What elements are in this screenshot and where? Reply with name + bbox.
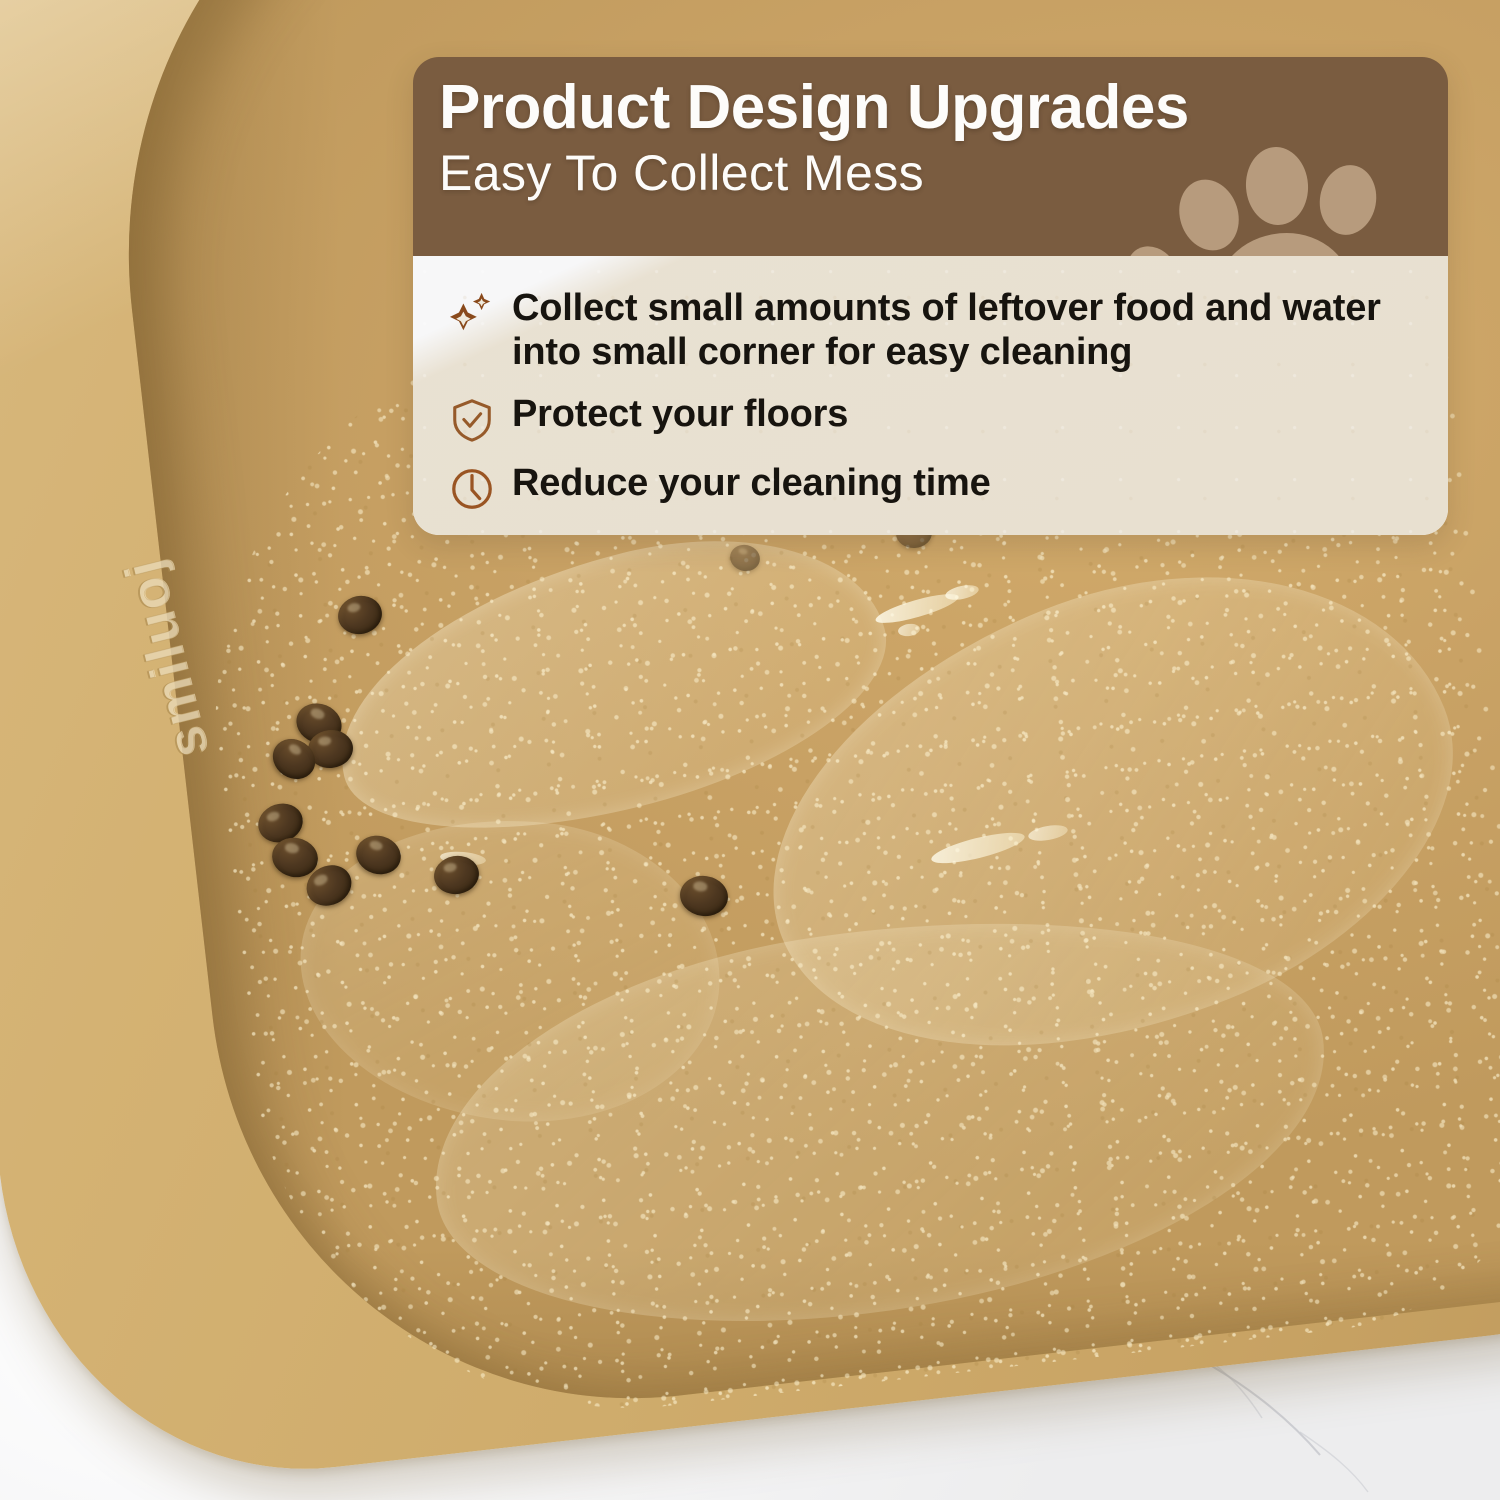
list-item-label: Protect your floors xyxy=(512,392,848,436)
panel-body: Collect small amounts of leftover food a… xyxy=(413,256,1448,535)
list-item-label: Reduce your cleaning time xyxy=(512,461,991,505)
product-marketing-image: smiluoj xyxy=(0,0,1500,1500)
info-panel: Product Design Upgrades Easy To Collect … xyxy=(413,57,1448,535)
panel-header: Product Design Upgrades Easy To Collect … xyxy=(413,57,1448,256)
feature-list: Collect small amounts of leftover food a… xyxy=(413,256,1448,512)
clock-icon xyxy=(449,466,495,512)
shield-check-icon xyxy=(449,397,495,443)
paw-main-pad xyxy=(1216,233,1352,256)
sparkle-icon xyxy=(449,291,495,337)
paw-toe-pad xyxy=(1116,237,1190,256)
list-item: Protect your floors xyxy=(449,392,1418,443)
list-item: Reduce your cleaning time xyxy=(449,461,1418,512)
page-title: Product Design Upgrades xyxy=(413,57,1448,140)
page-subtitle: Easy To Collect Mess xyxy=(413,140,1448,201)
list-item: Collect small amounts of leftover food a… xyxy=(449,286,1418,374)
list-item-label: Collect small amounts of leftover food a… xyxy=(512,286,1412,374)
